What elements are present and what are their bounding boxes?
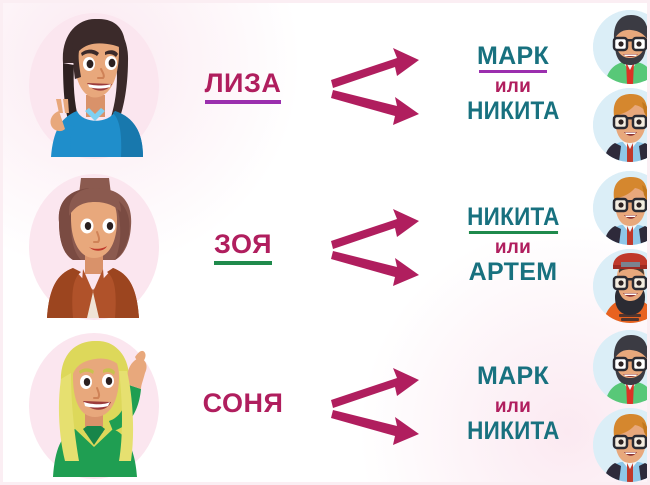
source-name: СОНЯ — [203, 388, 284, 424]
result-name-label: МАРК — [477, 42, 549, 70]
result-name-label: МАРК — [477, 362, 549, 390]
match-avatars-group — [593, 330, 650, 482]
source-name-label: ЛИЗА — [205, 68, 282, 98]
source-name-cell: СОНЯ — [169, 388, 317, 424]
arrows-group — [317, 40, 433, 132]
mark-illustration — [593, 330, 650, 404]
source-name: ЗОЯ — [214, 229, 272, 265]
result-name-label: НИКИТА — [467, 417, 560, 445]
result-name-underline — [469, 231, 558, 234]
pairing-row: ЗОЯ НИКИТА или АРТЕМ — [3, 166, 650, 327]
result-names-cell: МАРК или НИКИТА — [433, 43, 593, 129]
nikita-illustration — [593, 88, 650, 162]
result-names-cell: МАРК или НИКИТА — [433, 363, 593, 449]
nikita-illustration — [593, 408, 650, 482]
source-name-underline — [205, 100, 282, 104]
result-name-secondary: НИКИТА — [467, 98, 560, 128]
source-name-cell: ЛИЗА — [169, 68, 317, 104]
double-arrow-icon — [327, 360, 423, 452]
artem-avatar — [593, 249, 650, 323]
source-name-label: СОНЯ — [203, 388, 284, 418]
nikita-illustration — [593, 171, 650, 245]
mark-illustration — [593, 10, 650, 84]
arrows-group — [317, 360, 433, 452]
result-name-primary: НИКИТА — [467, 204, 560, 234]
pairing-row: ЛИЗА МАРК или НИКИТА — [3, 5, 650, 166]
or-connector: или — [495, 238, 531, 257]
liza-illustration — [17, 7, 169, 165]
match-avatars-group — [593, 10, 650, 162]
result-name-label: НИКИТА — [467, 97, 560, 125]
nikita-avatar — [593, 408, 650, 482]
result-name-label: НИКИТА — [467, 203, 560, 231]
result-name-secondary: АРТЕМ — [469, 259, 558, 289]
match-avatars-group — [593, 171, 650, 323]
pairing-row: СОНЯ МАРК или НИКИТА — [3, 325, 650, 485]
zoya-illustration — [17, 168, 169, 326]
or-connector: или — [495, 77, 531, 96]
result-name-label: АРТЕМ — [469, 258, 558, 286]
nikita-avatar — [593, 88, 650, 162]
mark-avatar — [593, 10, 650, 84]
zoya-avatar — [17, 168, 169, 326]
or-connector: или — [495, 397, 531, 416]
liza-avatar — [17, 7, 169, 165]
result-names-cell: НИКИТА или АРТЕМ — [433, 204, 593, 290]
arrows-group — [317, 201, 433, 293]
artem-illustration — [593, 249, 650, 323]
sonya-illustration — [17, 327, 169, 485]
double-arrow-icon — [327, 40, 423, 132]
infographic-page: ЛИЗА МАРК или НИКИТА — [0, 0, 650, 485]
result-name-underline — [479, 70, 547, 73]
mark-avatar — [593, 330, 650, 404]
source-name-label: ЗОЯ — [214, 229, 272, 259]
source-name-underline — [214, 261, 272, 265]
source-name-cell: ЗОЯ — [169, 229, 317, 265]
result-name-primary: МАРК — [477, 43, 549, 73]
source-name: ЛИЗА — [205, 68, 282, 104]
nikita-avatar — [593, 171, 650, 245]
result-name-secondary: НИКИТА — [467, 418, 560, 448]
sonya-avatar — [17, 327, 169, 485]
result-name-primary: МАРК — [477, 363, 549, 393]
double-arrow-icon — [327, 201, 423, 293]
